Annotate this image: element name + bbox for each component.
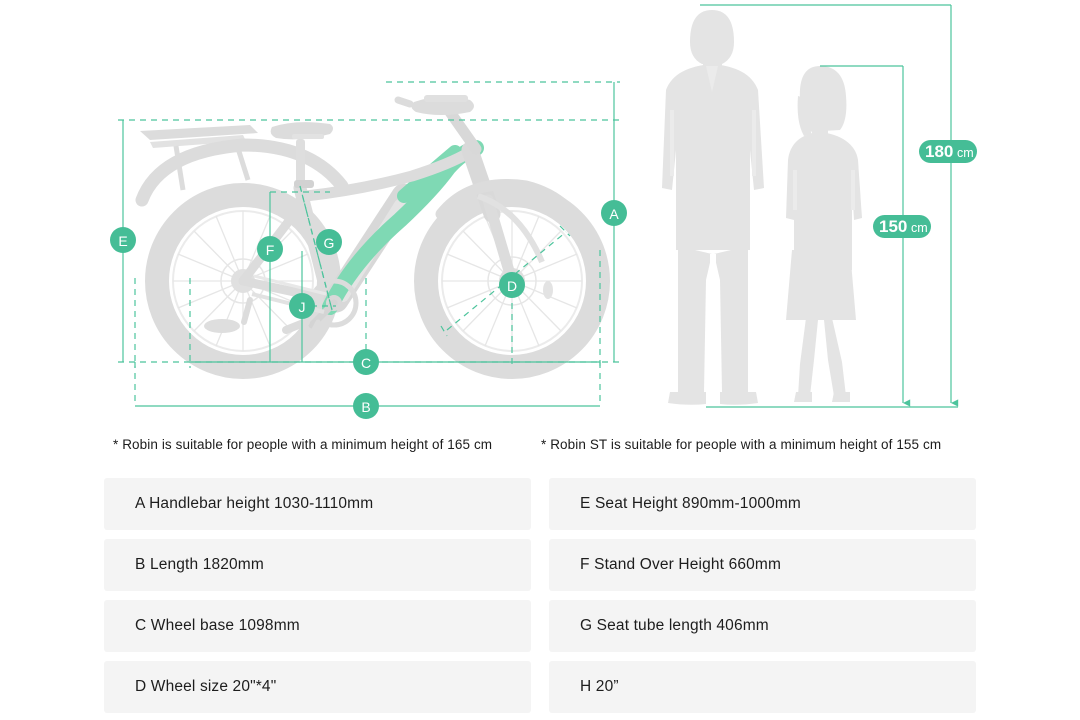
marker-e-label: E: [118, 233, 127, 249]
spec-row-f: F Stand Over Height 660mm: [549, 539, 976, 591]
badge-180-unit: cm: [957, 146, 974, 160]
specification-table: A Handlebar height 1030-1110mm B Length …: [0, 478, 1080, 720]
marker-g[interactable]: G: [316, 229, 342, 255]
footnote-robin: * Robin is suitable for people with a mi…: [113, 434, 492, 456]
marker-b-label: B: [361, 399, 370, 415]
spec-text-b: B Length 1820mm: [135, 556, 264, 574]
marker-f-label: F: [266, 242, 275, 258]
spec-column-left: A Handlebar height 1030-1110mm B Length …: [104, 478, 531, 720]
footnote-robin-st: * Robin ST is suitable for people with a…: [541, 434, 941, 456]
badge-180-value: 180: [925, 142, 953, 161]
spec-row-h: H 20”: [549, 661, 976, 713]
marker-c[interactable]: C: [353, 349, 379, 375]
marker-j-label: J: [299, 299, 306, 315]
height-badge-group: 180 cm 150 cm: [873, 140, 977, 238]
spec-row-c: C Wheel base 1098mm: [104, 600, 531, 652]
female-silhouette: [786, 66, 862, 402]
badge-150-value: 150: [879, 217, 907, 236]
badge-150: 150 cm: [873, 215, 931, 238]
spec-text-g: G Seat tube length 406mm: [580, 617, 769, 635]
spec-column-right: E Seat Height 890mm-1000mm F Stand Over …: [549, 478, 976, 720]
marker-a-label: A: [609, 206, 619, 222]
male-silhouette: [662, 10, 764, 405]
marker-d[interactable]: D: [499, 272, 525, 298]
spec-row-g: G Seat tube length 406mm: [549, 600, 976, 652]
spec-text-a: A Handlebar height 1030-1110mm: [135, 495, 373, 513]
bike-illustration: [140, 95, 598, 367]
marker-j[interactable]: J: [289, 293, 315, 319]
marker-g-label: G: [324, 235, 335, 251]
marker-a[interactable]: A: [601, 200, 627, 226]
spec-row-e: E Seat Height 890mm-1000mm: [549, 478, 976, 530]
marker-c-label: C: [361, 355, 371, 371]
marker-e[interactable]: E: [110, 227, 136, 253]
footnotes: * Robin is suitable for people with a mi…: [0, 434, 1080, 460]
spec-text-d: D Wheel size 20"*4": [135, 678, 276, 696]
marker-f[interactable]: F: [257, 236, 283, 262]
spec-row-d: D Wheel size 20"*4": [104, 661, 531, 713]
spec-text-e: E Seat Height 890mm-1000mm: [580, 495, 801, 513]
geometry-diagram: E F G J D A C: [0, 0, 1080, 430]
badge-180: 180 cm: [919, 140, 977, 163]
spec-text-c: C Wheel base 1098mm: [135, 617, 300, 635]
badge-150-unit: cm: [911, 221, 928, 235]
spec-text-h: H 20”: [580, 678, 619, 696]
spec-row-b: B Length 1820mm: [104, 539, 531, 591]
marker-d-label: D: [507, 278, 517, 294]
spec-row-a: A Handlebar height 1030-1110mm: [104, 478, 531, 530]
marker-b[interactable]: B: [353, 393, 379, 419]
spec-text-f: F Stand Over Height 660mm: [580, 556, 781, 574]
human-figures: [662, 10, 862, 405]
